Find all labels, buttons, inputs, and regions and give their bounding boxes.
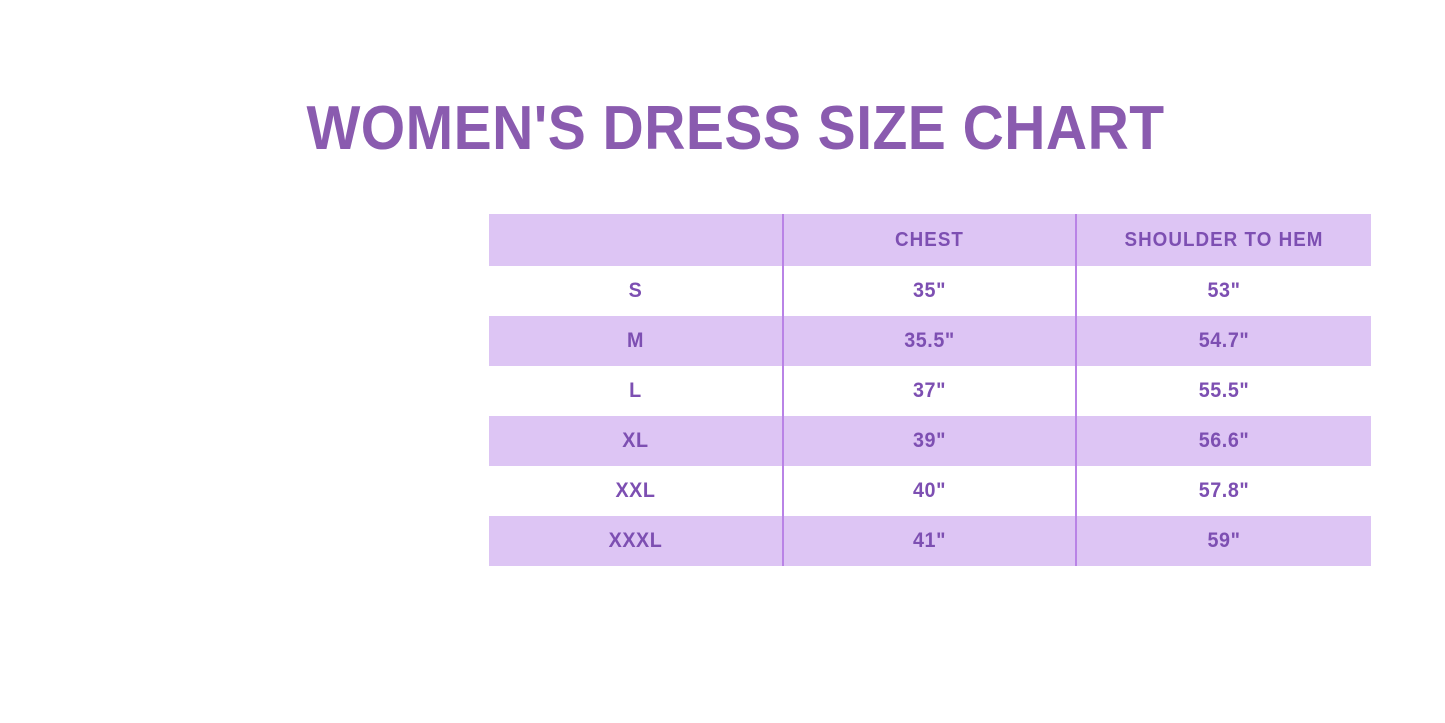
cell-size-label: L (498, 379, 773, 403)
cell-shoulder-to-hem-value: 55.5" (1086, 379, 1362, 403)
column-header-shoulder-to-hem: SHOULDER TO HEM (1076, 214, 1371, 266)
table-header: CHEST SHOULDER TO HEM (489, 214, 1371, 266)
table-header-row: CHEST SHOULDER TO HEM (489, 214, 1371, 266)
cell-size-label: M (498, 329, 773, 353)
table-row: XL 39" 56.6" (489, 416, 1371, 466)
cell-shoulder-to-hem-value: 53" (1086, 279, 1362, 303)
cell-chest-value: 40" (793, 479, 1067, 503)
cell-chest: 41" (783, 516, 1076, 566)
column-header-chest: CHEST (783, 214, 1076, 266)
cell-shoulder-to-hem-value: 57.8" (1086, 479, 1362, 503)
cell-chest-value: 35" (793, 279, 1067, 303)
cell-size: L (489, 366, 783, 416)
page-title: WOMEN'S DRESS SIZE CHART (71, 96, 1400, 161)
cell-size-label: XXL (498, 479, 773, 503)
table-row: M 35.5" 54.7" (489, 316, 1371, 366)
table-row: XXXL 41" 59" (489, 516, 1371, 566)
cell-shoulder-to-hem: 53" (1076, 266, 1371, 316)
table-row: L 37" 55.5" (489, 366, 1371, 416)
cell-chest: 35.5" (783, 316, 1076, 366)
cell-shoulder-to-hem-value: 54.7" (1086, 329, 1362, 353)
cell-chest: 40" (783, 466, 1076, 516)
size-chart-table-container: CHEST SHOULDER TO HEM S 35" 53" (489, 214, 1371, 566)
cell-size: XXL (489, 466, 783, 516)
cell-size: M (489, 316, 783, 366)
cell-size-label: XL (498, 429, 773, 453)
cell-size: S (489, 266, 783, 316)
cell-size-label: XXXL (498, 529, 773, 553)
cell-shoulder-to-hem: 56.6" (1076, 416, 1371, 466)
cell-chest: 39" (783, 416, 1076, 466)
cell-size: XXXL (489, 516, 783, 566)
cell-shoulder-to-hem: 54.7" (1076, 316, 1371, 366)
cell-chest: 35" (783, 266, 1076, 316)
cell-shoulder-to-hem: 55.5" (1076, 366, 1371, 416)
column-header-shoulder-to-hem-label: SHOULDER TO HEM (1086, 229, 1362, 252)
cell-chest-value: 37" (793, 379, 1067, 403)
size-chart-page: WOMEN'S DRESS SIZE CHART CHEST SHOULDER … (0, 0, 1445, 723)
cell-size: XL (489, 416, 783, 466)
table-row: S 35" 53" (489, 266, 1371, 316)
cell-chest-value: 39" (793, 429, 1067, 453)
size-chart-table: CHEST SHOULDER TO HEM S 35" 53" (489, 214, 1371, 566)
cell-chest: 37" (783, 366, 1076, 416)
cell-shoulder-to-hem: 59" (1076, 516, 1371, 566)
cell-shoulder-to-hem-value: 56.6" (1086, 429, 1362, 453)
column-header-chest-label: CHEST (793, 229, 1067, 252)
cell-chest-value: 41" (793, 529, 1067, 553)
table-body: S 35" 53" M 35.5" (489, 266, 1371, 566)
table-row: XXL 40" 57.8" (489, 466, 1371, 516)
cell-shoulder-to-hem-value: 59" (1086, 529, 1362, 553)
cell-shoulder-to-hem: 57.8" (1076, 466, 1371, 516)
cell-chest-value: 35.5" (793, 329, 1067, 353)
cell-size-label: S (498, 279, 773, 303)
column-header-size (489, 214, 783, 266)
